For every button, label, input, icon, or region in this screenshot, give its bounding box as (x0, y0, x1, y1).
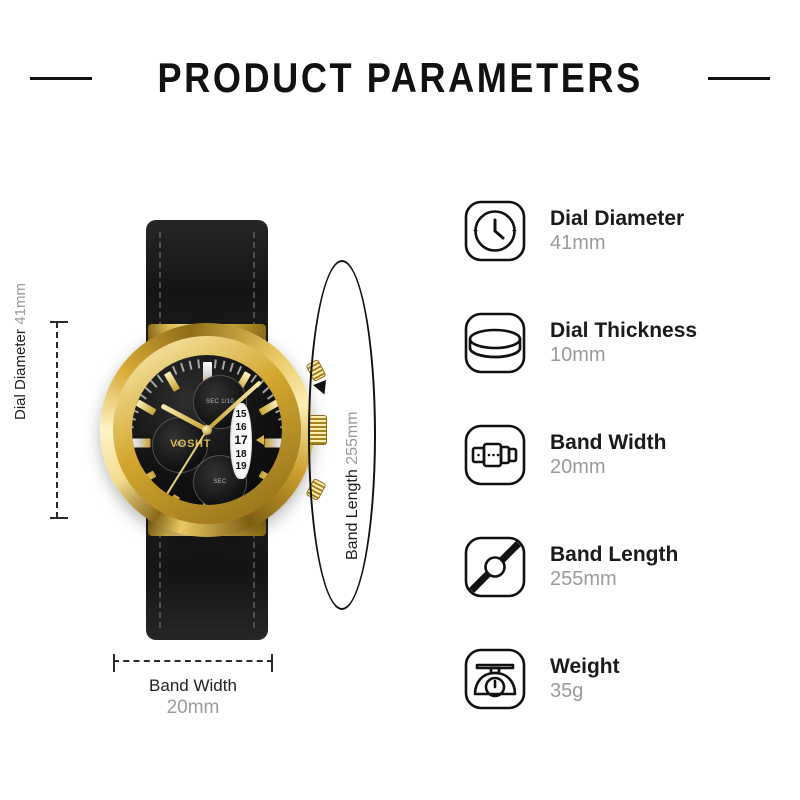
hour-marker-10 (135, 399, 156, 415)
spec-label: Weight (550, 655, 620, 680)
spec-label: Dial Diameter (550, 207, 684, 232)
watch-dial-icon (462, 198, 528, 264)
spec-value: 10mm (550, 344, 697, 368)
hour-marker-11 (163, 371, 179, 392)
band-width-callout-value: 20mm (73, 696, 313, 720)
watch-strap-icon (462, 534, 528, 600)
spec-text: Dial Diameter 41mm (550, 207, 684, 255)
strap-stitching-right (253, 232, 255, 338)
subdial-bottom-label: SEC (213, 479, 226, 485)
spec-row-dial-thickness: Dial Thickness 10mm (462, 304, 792, 382)
subdial-top-label: SEC 1/10 (206, 399, 234, 405)
hand-pinion (202, 425, 212, 435)
date-pointer-icon (256, 435, 264, 445)
spec-row-band-length: Band Length 255mm (462, 528, 792, 606)
spec-row-band-width: Band Width 20mm (462, 416, 792, 494)
dial-diameter-callout-value: 41mm (12, 283, 29, 325)
brand-name: VOSHT (170, 438, 211, 450)
band-length-ellipse-icon (308, 260, 376, 610)
date-value: 16 (235, 422, 246, 434)
spec-label: Band Width (550, 431, 666, 456)
band-width-callout-label: Band Width (73, 675, 313, 696)
spec-text: Weight 35g (550, 655, 620, 703)
watch-case: SEC 1/10 MIN SEC VOSHT 15 16 17 (100, 323, 314, 537)
spec-value: 35g (550, 680, 620, 704)
product-parameters-infographic: PRODUCT PARAMETERS Dial Diameter 41mm (0, 0, 800, 800)
spec-text: Dial Thickness 10mm (550, 319, 697, 367)
strap-stitching-left (159, 232, 161, 338)
band-width-measure-line (113, 660, 273, 662)
dial-diameter-callout-label: Dial Diameter (12, 329, 29, 420)
dial-diameter-callout: Dial Diameter 41mm (12, 283, 30, 420)
date-value: 18 (235, 449, 246, 461)
title-divider-left-icon (30, 77, 92, 80)
band-length-callout: Band Length 255mm (344, 411, 362, 560)
spec-value: 20mm (550, 456, 666, 480)
spec-row-dial-diameter: Dial Diameter 41mm (462, 192, 792, 270)
watch-bezel: SEC 1/10 MIN SEC VOSHT 15 16 17 (113, 336, 301, 524)
spec-text: Band Width 20mm (550, 431, 666, 479)
spec-list: Dial Diameter 41mm Dial Thickness 10mm (462, 192, 792, 752)
hour-marker-3 (264, 439, 282, 448)
spec-text: Band Length 255mm (550, 543, 678, 591)
date-window: 15 16 17 18 19 (230, 403, 252, 479)
kitchen-scale-icon (462, 646, 528, 712)
date-value: 19 (235, 461, 246, 473)
title-divider-right-icon (708, 77, 770, 80)
dial-diameter-measure-line (56, 322, 58, 518)
strap-stitching-right (253, 522, 255, 628)
strap-stitching-left (159, 522, 161, 628)
band-length-callout-value: 255mm (344, 411, 361, 464)
band-width-callout: Band Width 20mm (73, 675, 313, 720)
wristwatch-graphic: SEC 1/10 MIN SEC VOSHT 15 16 17 (82, 220, 332, 640)
spec-value: 41mm (550, 232, 684, 256)
hour-marker-9 (132, 439, 150, 448)
watch-dial: SEC 1/10 MIN SEC VOSHT 15 16 17 (132, 355, 282, 505)
page-header: PRODUCT PARAMETERS (0, 52, 800, 104)
spec-value: 255mm (550, 568, 678, 592)
band-clasp-icon (462, 422, 528, 488)
page-title: PRODUCT PARAMETERS (157, 54, 642, 102)
spec-row-weight: Weight 35g (462, 640, 792, 718)
band-length-loop (308, 260, 376, 610)
cylinder-puck-icon (462, 310, 528, 376)
band-length-callout-label: Band Length (344, 469, 361, 560)
spec-label: Dial Thickness (550, 319, 697, 344)
spec-label: Band Length (550, 543, 678, 568)
date-value-current: 17 (234, 434, 247, 448)
date-value: 15 (235, 409, 246, 421)
watch-illustration-panel: Dial Diameter 41mm (0, 170, 440, 750)
